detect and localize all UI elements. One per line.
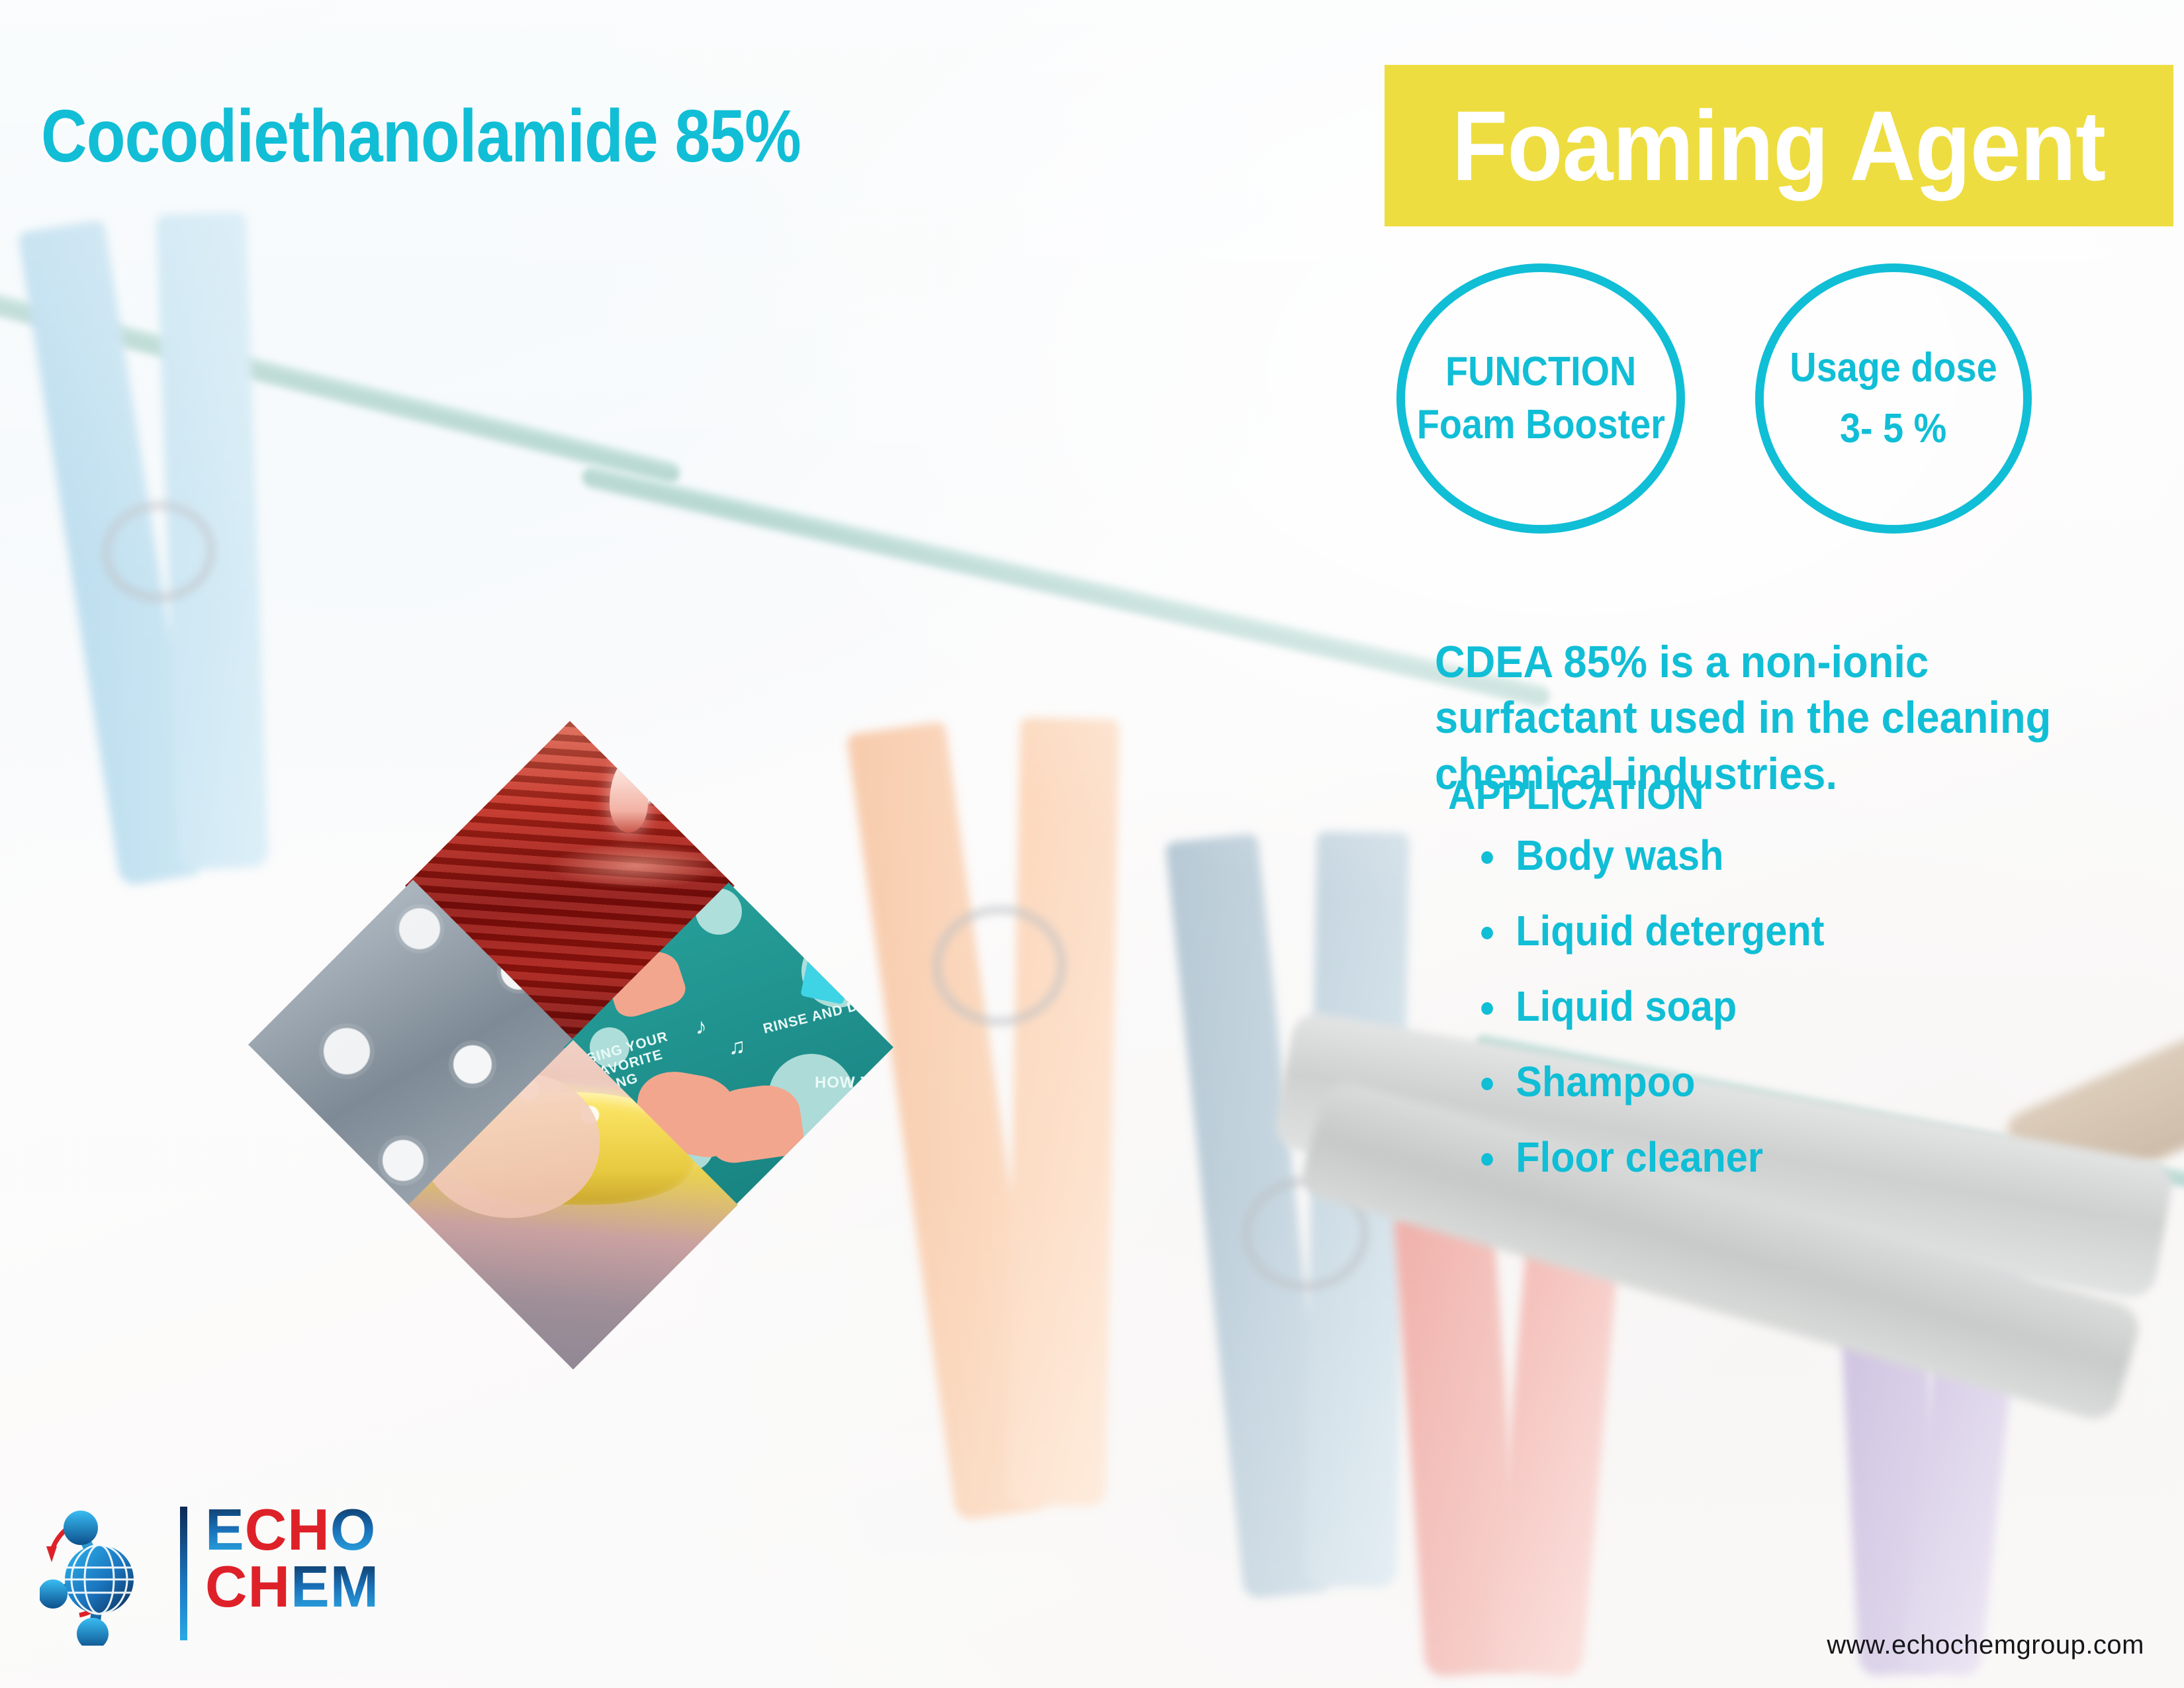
usage-dose-badge: Usage dose 3- 5 %: [1755, 263, 2032, 534]
function-badge-value: Foam Booster: [1416, 399, 1664, 451]
poster: Cocodiethanolamide 85% Foaming Agent FUN…: [0, 0, 2184, 1688]
content-layer: Cocodiethanolamide 85% Foaming Agent FUN…: [0, 0, 2184, 1688]
application-list-item: Shampoo: [1516, 1060, 1824, 1103]
logo-line-echo: ECHO: [205, 1501, 379, 1558]
application-section: APPLICATION Body wash Liquid detergent L…: [1448, 773, 1825, 1211]
product-title: Cocodiethanolamide 85%: [41, 97, 801, 175]
application-list-item: Floor cleaner: [1516, 1136, 1824, 1178]
bullet-icon: [1481, 1002, 1493, 1015]
application-item-label: Shampoo: [1516, 1058, 1695, 1105]
application-item-label: Floor cleaner: [1516, 1133, 1763, 1181]
bullet-icon: [1481, 851, 1493, 864]
application-list-item: Liquid soap: [1516, 985, 1824, 1027]
application-item-label: Liquid detergent: [1516, 907, 1824, 955]
function-badge-heading: FUNCTION: [1445, 346, 1636, 398]
logo-divider: [180, 1507, 187, 1640]
usage-dose-heading: Usage dose: [1790, 342, 1997, 394]
application-item-label: Liquid soap: [1516, 982, 1737, 1030]
globe-molecule-icon: [40, 1493, 172, 1646]
logo-letter-o: O: [330, 1497, 376, 1562]
logo-letters-ch2: CH: [205, 1554, 291, 1619]
application-list: Body wash Liquid detergent Liquid soap S…: [1448, 834, 1825, 1178]
application-list-item: Liquid detergent: [1516, 910, 1824, 952]
bullet-icon: [1481, 1153, 1493, 1166]
echochem-logo: ECHO CHEM: [40, 1488, 371, 1654]
website-url[interactable]: www.echochemgroup.com: [1827, 1630, 2144, 1660]
usage-dose-value: 3- 5 %: [1840, 403, 1946, 455]
logo-letter-e: E: [205, 1497, 245, 1562]
application-item-label: Body wash: [1516, 831, 1723, 879]
logo-letters-em: EM: [291, 1554, 379, 1619]
diamond-photo-collage: ♪ ♫ RINSE AND DRY SING YOUR FAVORITE SON…: [316, 794, 826, 1332]
application-list-item: Body wash: [1516, 834, 1824, 876]
bullet-icon: [1481, 927, 1493, 939]
collage-label-wash: W: [821, 1133, 843, 1159]
logo-letters-ch: CH: [245, 1497, 330, 1562]
collage-label-howto: HOW TO: [815, 1074, 884, 1092]
logo-line-chem: CHEM: [205, 1558, 379, 1615]
foaming-agent-banner: Foaming Agent: [1385, 65, 2173, 226]
application-heading: APPLICATION: [1448, 773, 1825, 818]
banner-label: Foaming Agent: [1452, 96, 2105, 195]
bullet-icon: [1481, 1078, 1493, 1090]
logo-wordmark: ECHO CHEM: [205, 1501, 379, 1615]
function-badge: FUNCTION Foam Booster: [1396, 263, 1685, 534]
